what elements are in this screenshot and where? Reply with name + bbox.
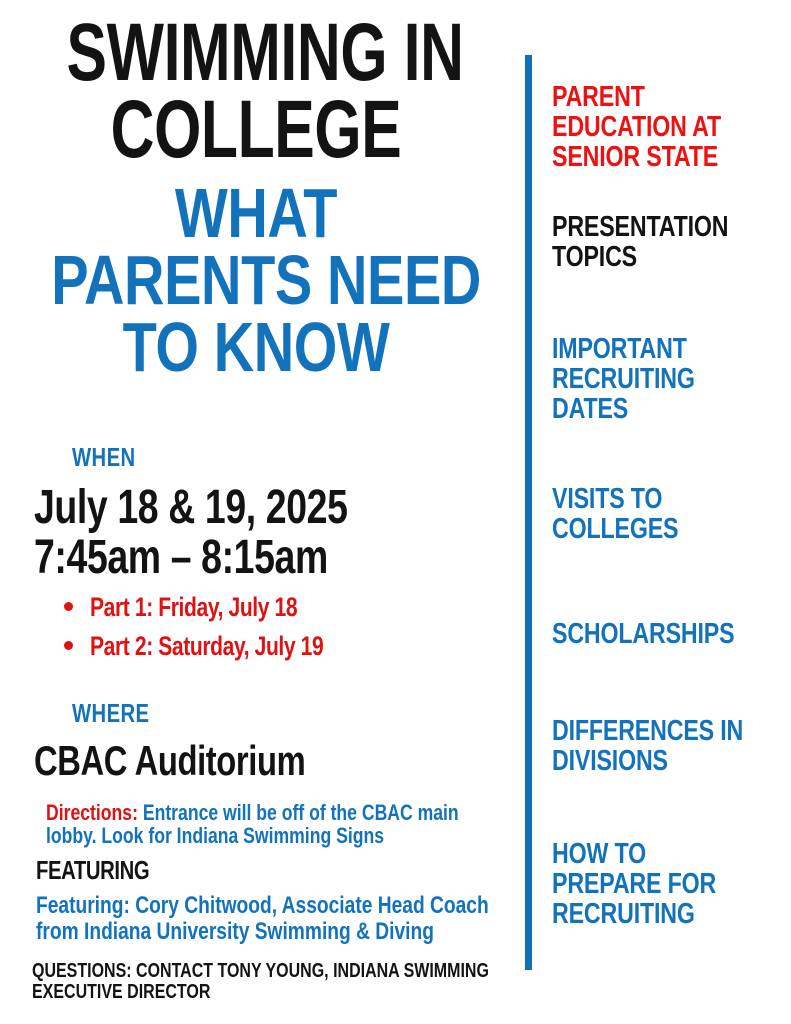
sidebar-item-how-to-prepare-for-recruiting: HOW TOPREPARE FORRECRUITING xyxy=(552,839,791,929)
sidebar-item-label: IMPORTANT xyxy=(552,334,743,364)
directions-line-2: lobby. Look for Indiana Swimming Signs xyxy=(46,824,398,847)
sidebar-item-label: HOW TO xyxy=(552,839,743,869)
sidebar: PARENTEDUCATION ATSENIOR STATEPRESENTATI… xyxy=(552,0,791,1024)
sidebar-item-label: PARENT xyxy=(552,82,743,112)
directions-text-1: Entrance will be off of the CBAC main xyxy=(138,800,459,825)
bullet-dot-icon xyxy=(64,602,73,611)
sidebar-item-differences-in-divisions: DIFFERENCES INDIVISIONS xyxy=(552,716,791,776)
sidebar-item-label: TOPICS xyxy=(552,242,743,272)
page-subtitle-line-1: WHAT xyxy=(51,180,461,247)
list-item: Part 1: Friday, July 18 xyxy=(64,594,389,621)
when-part-1: Part 1: Friday, July 18 xyxy=(90,594,297,621)
sidebar-item-label: SCHOLARSHIPS xyxy=(552,619,743,649)
where-section-label: WHERE xyxy=(72,698,149,729)
left-column: SWIMMING IN COLLEGE WHAT PARENTS NEED TO… xyxy=(0,0,512,1024)
featuring-line-1: Featuring: Cory Chitwood, Associate Head… xyxy=(36,893,396,919)
when-time: 7:45am – 8:15am xyxy=(34,534,328,582)
sidebar-item-label: COLLEGES xyxy=(552,514,743,544)
questions-line-1: QUESTIONS: CONTACT TONY YOUNG, INDIANA S… xyxy=(32,961,408,982)
page-subtitle: WHAT PARENTS NEED TO KNOW xyxy=(0,180,512,382)
sidebar-item-label: SENIOR STATE xyxy=(552,142,743,172)
page-subtitle-line-2: PARENTS NEED xyxy=(51,247,461,314)
sidebar-item-label: VISITS TO xyxy=(552,484,743,514)
where-venue-wrap: CBAC Auditorium xyxy=(34,740,382,782)
when-date: July 18 & 19, 2025 xyxy=(34,484,348,532)
sidebar-item-label: PREPARE FOR xyxy=(552,869,743,899)
page-subtitle-line-3: TO KNOW xyxy=(51,314,461,381)
questions-line-2: EXECUTIVE DIRECTOR xyxy=(32,982,408,1003)
sidebar-item-label: PRESENTATION xyxy=(552,212,743,242)
when-parts-list: Part 1: Friday, July 18 Part 2: Saturday… xyxy=(64,594,389,672)
directions-block: Directions: Entrance will be off of the … xyxy=(46,801,486,848)
list-item: Part 2: Saturday, July 19 xyxy=(64,633,389,660)
sidebar-item-parent-education: PARENTEDUCATION ATSENIOR STATE xyxy=(552,82,791,172)
bullet-dot-icon xyxy=(64,641,73,650)
when-part-2: Part 2: Saturday, July 19 xyxy=(90,633,323,660)
sidebar-item-label: RECRUITING xyxy=(552,364,743,394)
sidebar-item-presentation-topics: PRESENTATIONTOPICS xyxy=(552,212,791,272)
vertical-divider xyxy=(525,55,532,970)
sidebar-item-important-recruiting-dates: IMPORTANTRECRUITINGDATES xyxy=(552,334,791,424)
page-title-line-1: SWIMMING IN xyxy=(67,14,446,91)
featuring-line-2: from Indiana University Swimming & Divin… xyxy=(36,919,396,945)
questions-footer: QUESTIONS: CONTACT TONY YOUNG, INDIANA S… xyxy=(32,961,502,1003)
sidebar-item-label: DIVISIONS xyxy=(552,746,743,776)
where-venue: CBAC Auditorium xyxy=(34,740,305,782)
page-title-line-2: COLLEGE xyxy=(67,91,446,168)
sidebar-item-label: DATES xyxy=(552,394,743,424)
when-section-label: WHEN xyxy=(72,442,136,473)
page-title: SWIMMING IN COLLEGE xyxy=(0,14,512,168)
sidebar-item-label: EDUCATION AT xyxy=(552,112,743,142)
poster-canvas: SWIMMING IN COLLEGE WHAT PARENTS NEED TO… xyxy=(0,0,791,1024)
sidebar-item-label: DIFFERENCES IN xyxy=(552,716,743,746)
featuring-block: Featuring: Cory Chitwood, Associate Head… xyxy=(36,893,486,945)
sidebar-item-visits-to-colleges: VISITS TOCOLLEGES xyxy=(552,484,791,544)
sidebar-item-label: RECRUITING xyxy=(552,899,743,929)
directions-line-1: Directions: Entrance will be off of the … xyxy=(46,801,398,824)
featuring-section-label: FEATURING xyxy=(36,855,149,886)
directions-label: Directions: xyxy=(46,800,138,825)
sidebar-item-scholarships: SCHOLARSHIPS xyxy=(552,619,791,649)
